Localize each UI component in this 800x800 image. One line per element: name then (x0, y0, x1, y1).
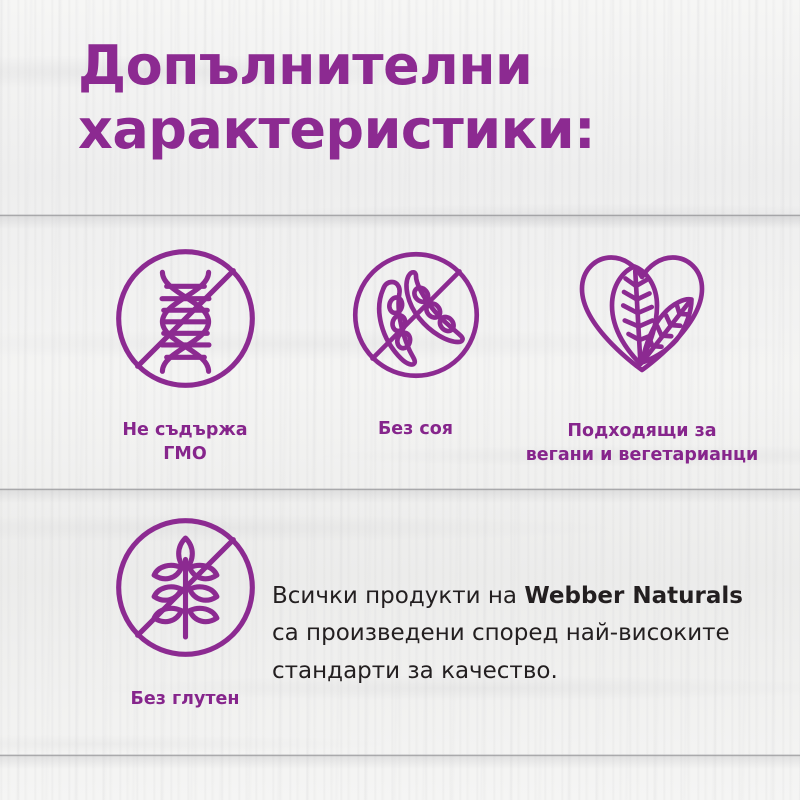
feature-caption-no-gluten: Без глутен (35, 688, 335, 712)
poster-canvas: Допълнителни характеристики: Не съдържа (0, 0, 800, 800)
heart-leaves-vegan-icon (487, 238, 797, 392)
page-title: Допълнителни характеристики: (78, 34, 738, 161)
quality-statement-line-3: стандарти за качество. (272, 653, 777, 690)
plank-shadow-1 (0, 217, 800, 229)
quality-statement-text-1: Всички продукти на (272, 583, 524, 609)
quality-statement-line-2: са произведени според най-високите (272, 615, 777, 652)
feature-item-vegan-vegetarian: Подходящи за вегани и вегетарианци (487, 238, 797, 467)
feature-caption-vegan-vegetarian: Подходящи за вегани и вегетарианци (487, 420, 797, 467)
quality-statement: Всички продукти на Webber Naturals са пр… (272, 578, 777, 690)
brand-name: Webber Naturals (524, 583, 743, 609)
plank-shadow-2 (0, 491, 800, 503)
plank-shadow-3 (0, 757, 800, 769)
quality-statement-line-1: Всички продукти на Webber Naturals (272, 578, 777, 615)
